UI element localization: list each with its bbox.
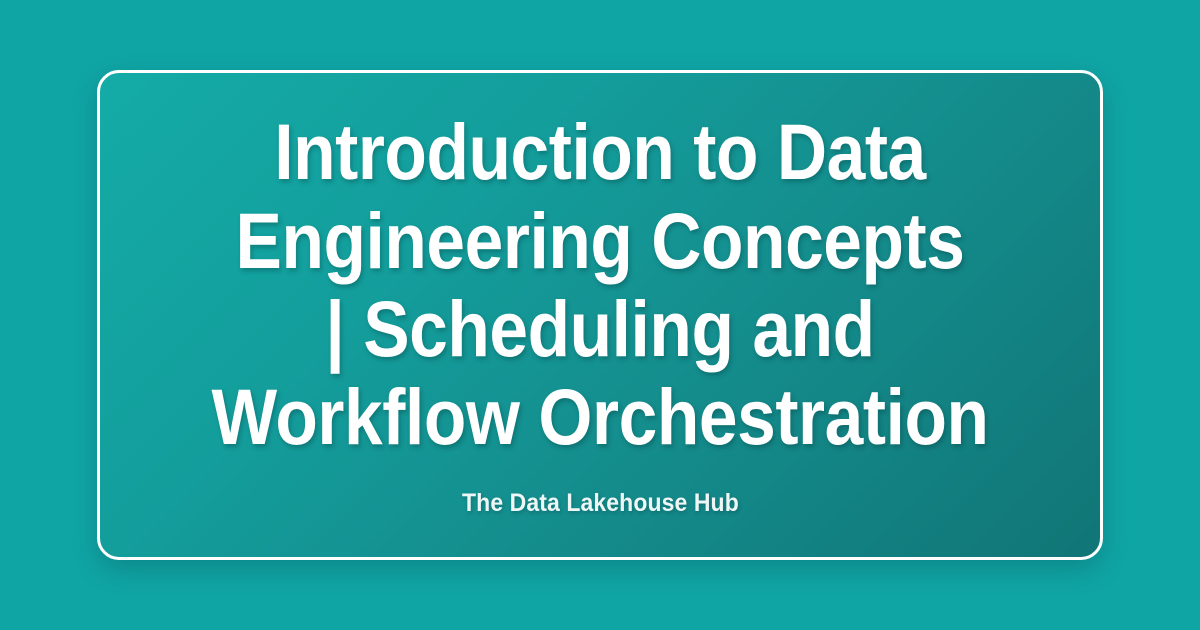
content-card: Introduction to Data Engineering Concept…	[97, 70, 1103, 560]
social-card-canvas: Introduction to Data Engineering Concept…	[0, 0, 1200, 630]
site-name-subtitle: The Data Lakehouse Hub	[462, 488, 739, 518]
page-title: Introduction to Data Engineering Concept…	[195, 108, 1005, 462]
